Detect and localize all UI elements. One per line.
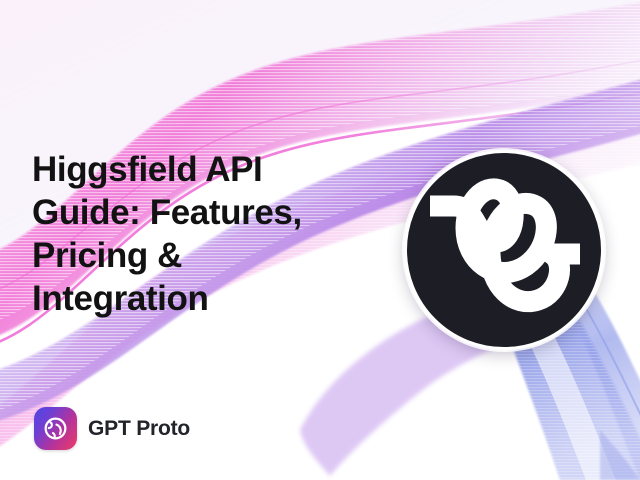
brand-name: GPT Proto	[88, 417, 190, 441]
globe-icon	[34, 407, 77, 450]
higgsfield-logo	[404, 150, 604, 350]
page-title: Higgsfield API Guide: Features, Pricing …	[32, 148, 382, 320]
wave-wisp-blue	[600, 430, 640, 480]
serpentine-squiggle-icon	[404, 150, 604, 350]
brand-badge[interactable]: GPT Proto	[34, 407, 190, 450]
blog-header-card: Higgsfield API Guide: Features, Pricing …	[0, 0, 640, 480]
